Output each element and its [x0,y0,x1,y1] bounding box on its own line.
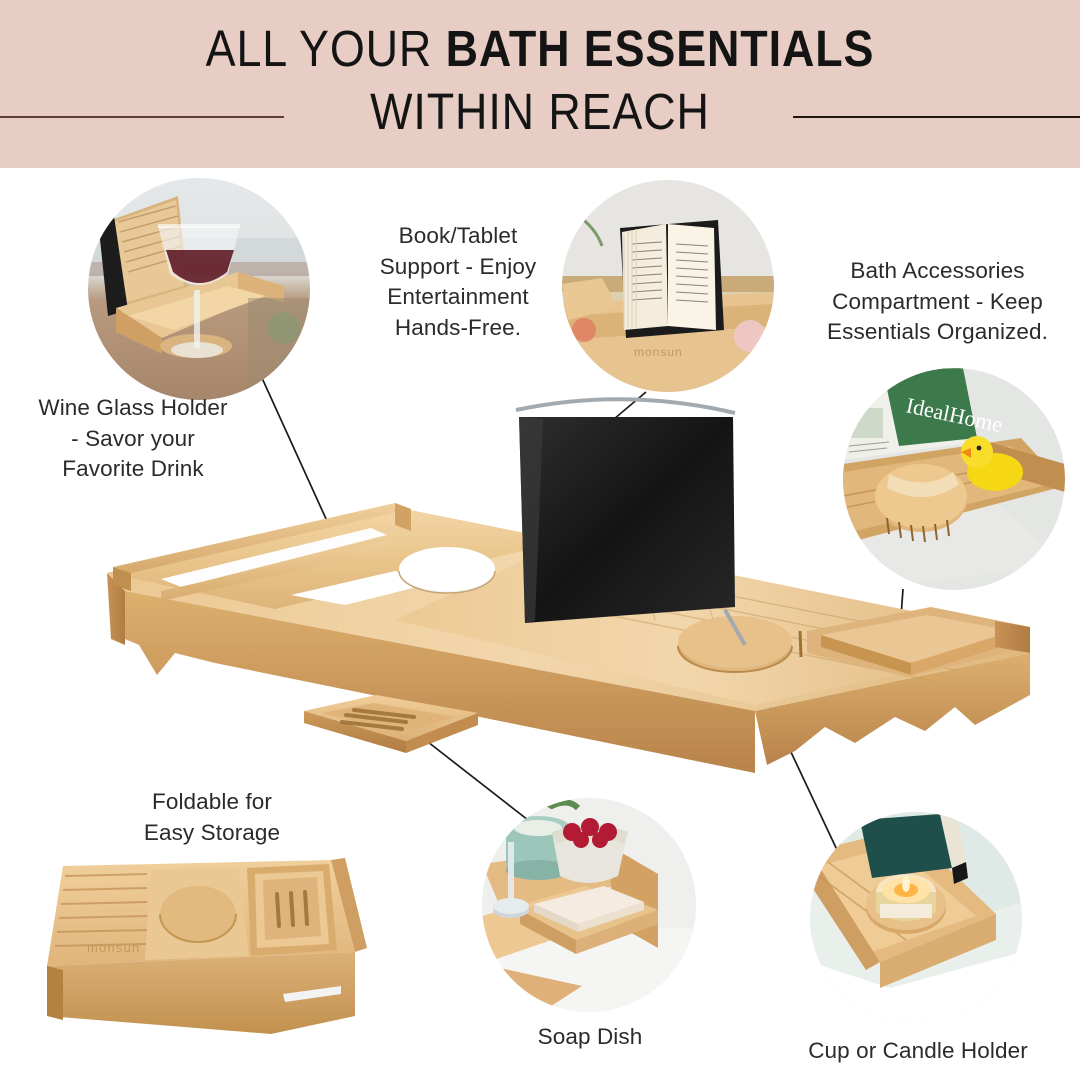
accessories-label-line-2: Compartment - Keep [795,287,1080,318]
foldable-label-line-2: Easy Storage [92,818,332,849]
brand-emboss: monsun [87,940,140,955]
wine-glass-photo-circle [88,178,310,400]
accessories-label-line-1: Bath Accessories [795,256,1080,287]
wine-label-line-1: Wine Glass Holder [0,393,266,424]
page-title-line-1: ALL YOUR BATH ESSENTIALS [65,22,1015,76]
accessories-photo: IdealHome [843,368,1065,590]
candle-photo [810,812,1022,1024]
accessories-photo-circle: IdealHome [843,368,1065,590]
callout-book-tablet-support: Book/Tablet Support - Enjoy Entertainmen… [352,221,564,343]
wine-glass-photo [88,178,310,400]
candle-label-line-1: Cup or Candle Holder [768,1036,1068,1067]
book-label-line-3: Entertainment [352,282,564,313]
soap-label-line-1: Soap Dish [470,1022,710,1053]
accessories-label-line-3: Essentials Organized. [795,317,1080,348]
book-label-line-4: Hands-Free. [352,313,564,344]
bamboo-soap-dish [298,693,483,765]
soap-photo [482,798,696,1012]
callout-bath-accessories: Bath Accessories Compartment - Keep Esse… [795,256,1080,348]
book-support-photo-circle: monsun [562,180,774,392]
candle-holder-photo-circle [810,812,1022,1024]
book-photo: monsun [562,180,774,392]
book-label-line-2: Support - Enjoy [352,252,564,283]
callout-soap-dish: Soap Dish [470,1022,710,1053]
callout-foldable-storage: Foldable for Easy Storage [92,787,332,848]
page-title-line-2: WITHIN REACH [65,85,1015,139]
title-regular-part: ALL YOUR [206,20,446,77]
callout-cup-candle-holder: Cup or Candle Holder [768,1036,1068,1067]
soap-dish-photo-circle [482,798,696,1012]
wine-label-line-2: - Savor your [0,424,266,455]
foldable-label-line-1: Foldable for [92,787,332,818]
svg-text:monsun: monsun [634,345,683,359]
book-label-line-1: Book/Tablet [352,221,564,252]
title-bold-part: BATH ESSENTIALS [446,20,875,77]
wine-label-line-3: Favorite Drink [0,454,266,485]
book-tablet-support [516,399,745,645]
infographic-canvas: ALL YOUR BATH ESSENTIALS WITHIN REACH [0,0,1080,1074]
callout-wine-glass-holder: Wine Glass Holder - Savor your Favorite … [0,393,266,485]
folded-tray-product: monsun [35,848,380,1048]
